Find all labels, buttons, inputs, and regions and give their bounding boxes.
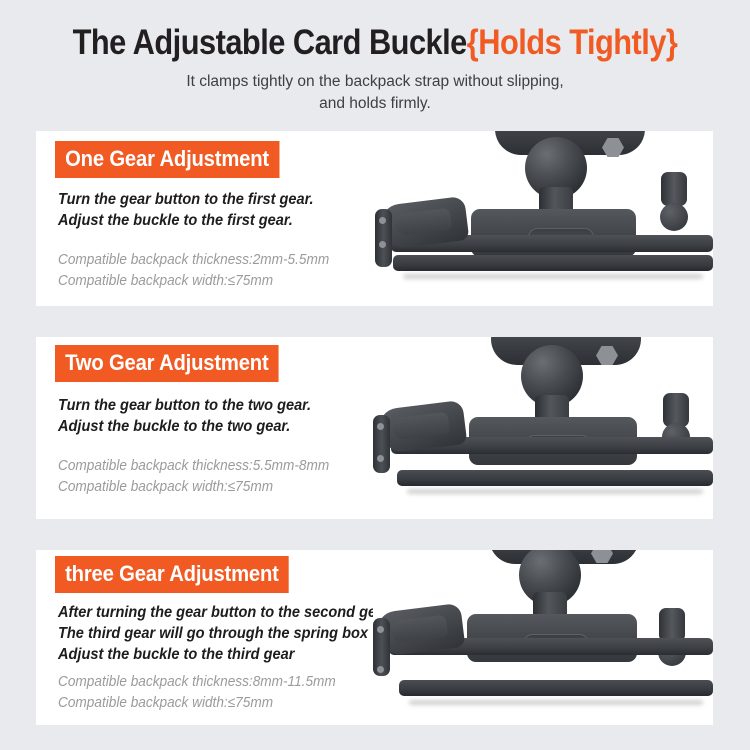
section-badge-two: Two Gear Adjustment bbox=[55, 345, 279, 382]
section-body-one: Turn the gear button to the first gear. … bbox=[58, 189, 314, 231]
buckle-photo-three-gear bbox=[373, 550, 713, 725]
body-line: Adjust the buckle to the first gear. bbox=[58, 210, 314, 231]
body-line: The third gear will go through the sprin… bbox=[58, 623, 390, 644]
section-badge-three: three Gear Adjustment bbox=[55, 556, 289, 593]
section-specs-two: Compatible backpack thickness:5.5mm-8mm … bbox=[58, 456, 329, 498]
spec-line-width: Compatible backpack width:≤75mm bbox=[58, 477, 329, 498]
page-subtitle: It clamps tightly on the backpack strap … bbox=[0, 71, 750, 115]
spec-line-thickness: Compatible backpack thickness:2mm-5.5mm bbox=[58, 250, 329, 271]
title-accent-text: Holds Tightly bbox=[478, 23, 666, 62]
body-line: Turn the gear button to the first gear. bbox=[58, 189, 314, 210]
gear-section-card-three: three Gear Adjustment After turning the … bbox=[36, 550, 713, 725]
buckle-photo-first-gear bbox=[373, 131, 713, 306]
spec-line-width: Compatible backpack width:≤75mm bbox=[58, 271, 329, 292]
header: The Adjustable Card Buckle{Holds Tightly… bbox=[0, 0, 750, 115]
section-badge-one: One Gear Adjustment bbox=[55, 141, 279, 178]
body-line: Adjust the buckle to the third gear bbox=[58, 644, 390, 665]
subtitle-line-2: and holds firmly. bbox=[0, 93, 750, 115]
spec-line-thickness: Compatible backpack thickness:5.5mm-8mm bbox=[58, 456, 329, 477]
body-line: Turn the gear button to the two gear. bbox=[58, 395, 311, 416]
section-body-two: Turn the gear button to the two gear. Ad… bbox=[58, 395, 311, 437]
title-open-brace: { bbox=[467, 23, 478, 62]
spec-line-thickness: Compatible backpack thickness:8mm-11.5mm bbox=[58, 672, 336, 693]
section-specs-one: Compatible backpack thickness:2mm-5.5mm … bbox=[58, 250, 329, 292]
body-line: After turning the gear button to the sec… bbox=[58, 602, 390, 623]
title-main-text: The Adjustable Card Buckle bbox=[73, 23, 467, 62]
subtitle-line-1: It clamps tightly on the backpack strap … bbox=[0, 71, 750, 93]
buckle-photo-two-gear bbox=[373, 337, 713, 519]
title-close-brace: } bbox=[666, 23, 677, 62]
spec-line-width: Compatible backpack width:≤75mm bbox=[58, 693, 336, 714]
section-specs-three: Compatible backpack thickness:8mm-11.5mm… bbox=[58, 672, 336, 714]
body-line: Adjust the buckle to the two gear. bbox=[58, 416, 311, 437]
page-title: The Adjustable Card Buckle{Holds Tightly… bbox=[45, 22, 705, 64]
section-body-three: After turning the gear button to the sec… bbox=[58, 602, 390, 665]
gear-section-card-two: Two Gear Adjustment Turn the gear button… bbox=[36, 337, 713, 519]
gear-section-card-one: One Gear Adjustment Turn the gear button… bbox=[36, 131, 713, 306]
